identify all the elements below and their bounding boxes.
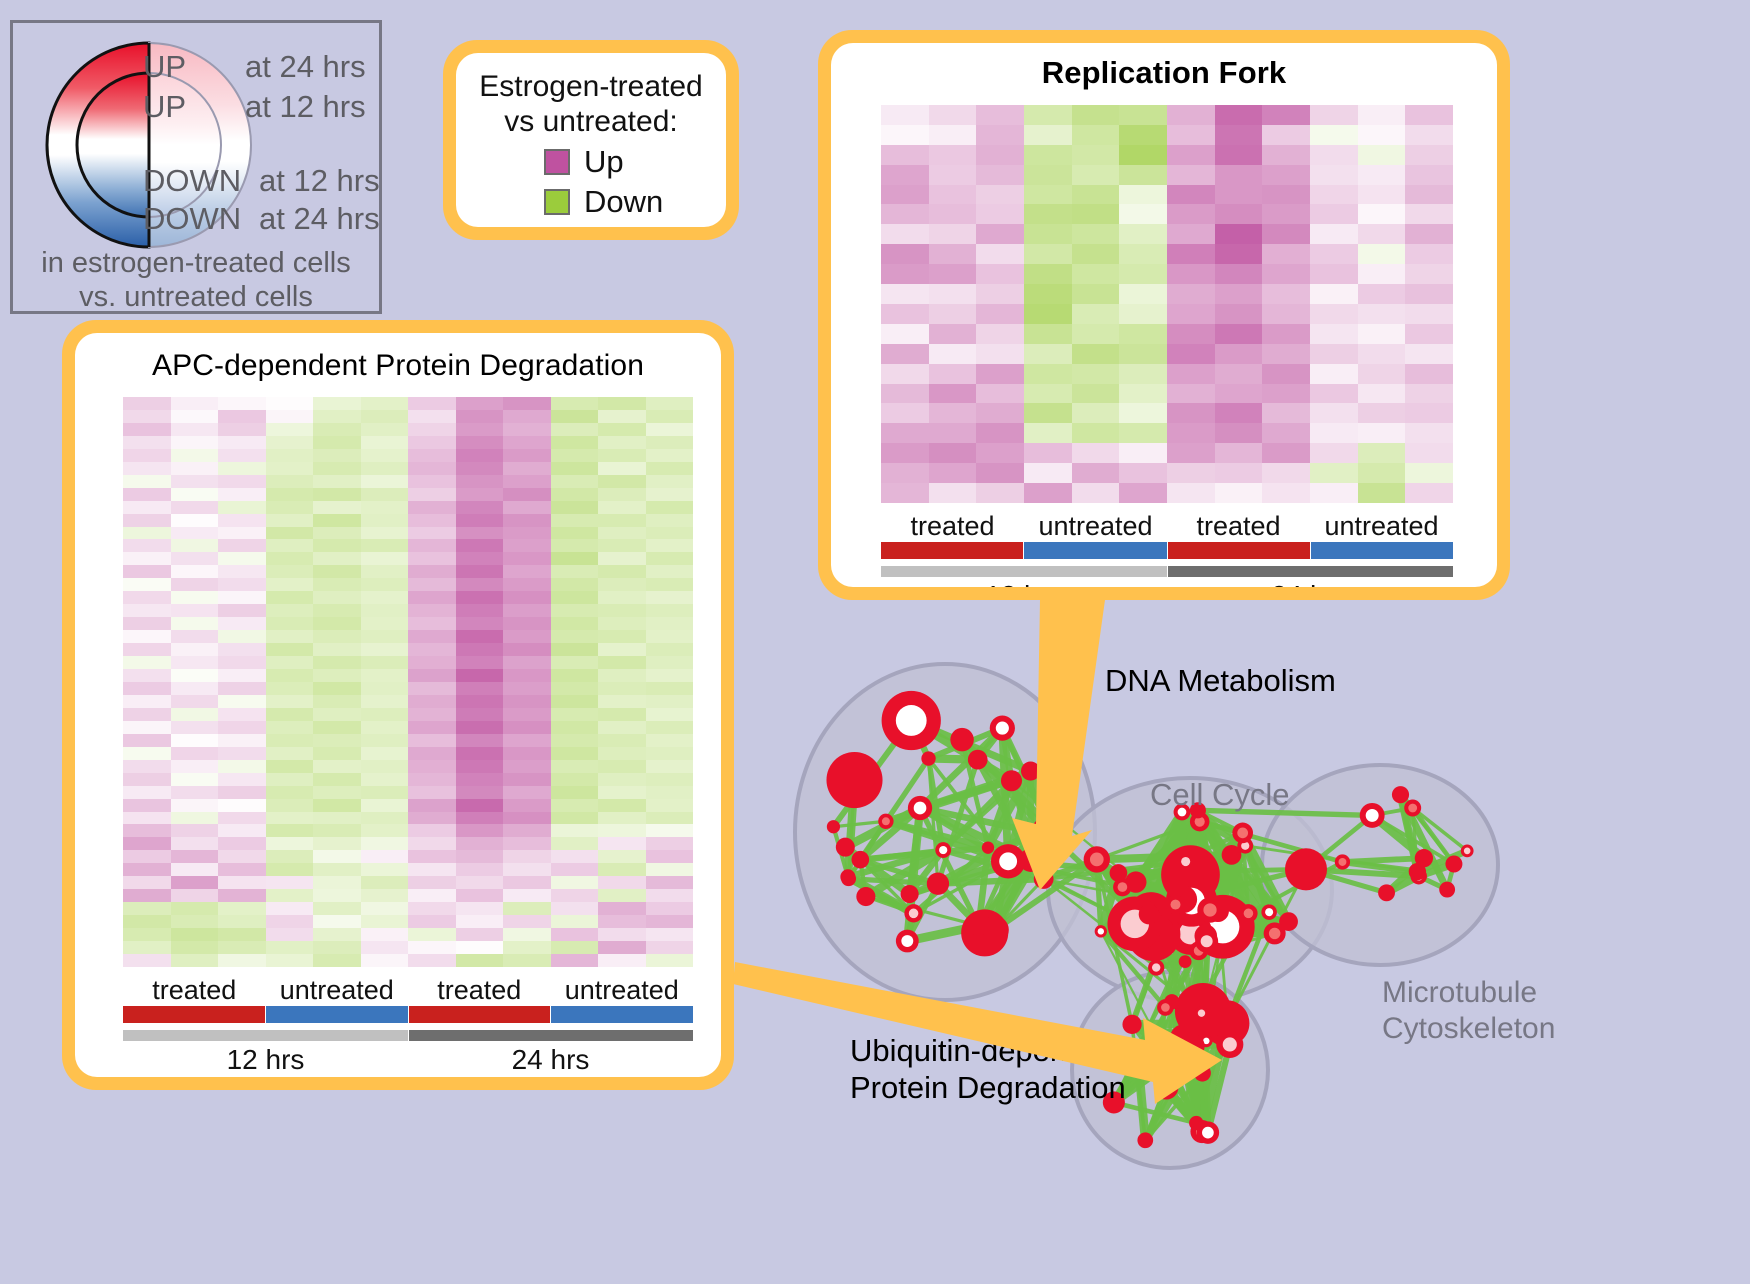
heatmap-cell xyxy=(503,928,551,941)
heatmap-cell xyxy=(218,475,266,488)
heatmap-cell xyxy=(361,695,409,708)
legend-item-down: Down xyxy=(544,184,716,220)
heatmap-cell xyxy=(929,483,977,503)
heatmap-cell xyxy=(218,514,266,527)
heatmap-cell xyxy=(123,604,171,617)
heatmap-cell xyxy=(361,462,409,475)
heatmap-cell xyxy=(266,902,314,915)
heatmap-cell xyxy=(929,105,977,125)
heatmap-cell xyxy=(266,941,314,954)
heatmap-cell xyxy=(1072,264,1120,284)
heatmap-cell xyxy=(408,591,456,604)
network-node[interactable] xyxy=(1194,1064,1211,1081)
heatmap-cell xyxy=(313,591,361,604)
heatmap-cell xyxy=(266,863,314,876)
heatmap-cell xyxy=(361,915,409,928)
network-node[interactable] xyxy=(1264,922,1286,944)
heatmap-cell xyxy=(881,403,929,423)
heatmap-cell xyxy=(598,630,646,643)
network-node[interactable] xyxy=(836,838,855,857)
heatmap-cell xyxy=(123,488,171,501)
heatmap-cell xyxy=(1358,185,1406,205)
heatmap-cell xyxy=(313,760,361,773)
heatmap-cell xyxy=(123,423,171,436)
network-node[interactable] xyxy=(969,916,989,936)
heatmap-cell xyxy=(976,185,1024,205)
network-node[interactable] xyxy=(1197,897,1222,922)
heatmap-cell xyxy=(1358,324,1406,344)
heatmap-cell xyxy=(1072,185,1120,205)
heatmap-cell xyxy=(976,463,1024,483)
heatmap-cell xyxy=(1405,443,1453,463)
heatmap-cell xyxy=(123,552,171,565)
network-node[interactable] xyxy=(935,842,951,858)
heatmap-cell xyxy=(1119,344,1167,364)
heatmap-cell xyxy=(266,514,314,527)
heatmap-cell xyxy=(1405,185,1453,205)
heatmap-cell xyxy=(171,799,219,812)
heatmap-cell xyxy=(456,449,504,462)
heatmap-cell xyxy=(266,591,314,604)
network-node[interactable] xyxy=(1461,844,1474,857)
heatmap-cell xyxy=(1310,483,1358,503)
legend-row-2-time: at 12 hrs xyxy=(259,163,380,199)
heatmap-cell xyxy=(361,760,409,773)
heatmap-cell xyxy=(551,837,599,850)
heatmap-cell xyxy=(313,682,361,695)
heatmap-cell xyxy=(503,902,551,915)
network-node[interactable] xyxy=(1439,882,1455,898)
network-node[interactable] xyxy=(1415,849,1433,867)
heatmap-cell xyxy=(171,863,219,876)
heatmap-cell xyxy=(1310,443,1358,463)
network-node[interactable] xyxy=(982,841,994,853)
heatmap-cell xyxy=(218,643,266,656)
heatmap-cell xyxy=(598,397,646,410)
heatmap-cell xyxy=(881,443,929,463)
heatmap-cell xyxy=(598,591,646,604)
heatmap-cell xyxy=(171,436,219,449)
heatmap-cell xyxy=(218,824,266,837)
heatmap-cell xyxy=(218,630,266,643)
heatmap-cell xyxy=(123,941,171,954)
heatmap-cell xyxy=(598,954,646,967)
heatmap-cell xyxy=(408,669,456,682)
heatmap-cell xyxy=(408,643,456,656)
down-color-swatch xyxy=(544,189,570,215)
heatmap-cell xyxy=(123,462,171,475)
network-node[interactable] xyxy=(968,750,988,770)
network-node[interactable] xyxy=(1335,854,1350,869)
heatmap-cell xyxy=(646,552,694,565)
network-node[interactable] xyxy=(1084,846,1110,872)
heatmap-cell xyxy=(1024,364,1072,384)
heatmap-cell xyxy=(361,501,409,514)
heatmap-cell xyxy=(361,876,409,889)
network-node[interactable] xyxy=(1392,786,1409,803)
network-node[interactable] xyxy=(1095,925,1107,937)
heatmap-cell xyxy=(361,656,409,669)
network-node[interactable] xyxy=(878,814,893,829)
heatmap-cell xyxy=(123,617,171,630)
heatmap-cell xyxy=(123,630,171,643)
heatmap-cell xyxy=(1215,304,1263,324)
heatmap-cell xyxy=(1072,423,1120,443)
network-node[interactable] xyxy=(1154,1075,1179,1100)
heatmap-cell xyxy=(551,863,599,876)
heatmap-cell xyxy=(456,669,504,682)
heatmap-cell xyxy=(1405,483,1453,503)
heatmap-cell xyxy=(456,928,504,941)
heatmap-cell xyxy=(1262,423,1310,443)
heatmap-cell xyxy=(313,436,361,449)
heatmap-cell xyxy=(1215,185,1263,205)
heatmap-cell xyxy=(646,682,694,695)
cluster-label-line: Microtubule xyxy=(1382,975,1555,1011)
heatmap-cell xyxy=(313,410,361,423)
heatmap-cell xyxy=(598,734,646,747)
expression-legend-title-2: vs untreated: xyxy=(466,104,716,139)
network-node[interactable] xyxy=(1157,999,1174,1016)
heatmap-cell xyxy=(1262,364,1310,384)
heatmap-cell xyxy=(361,449,409,462)
heatmap-cell xyxy=(1262,443,1310,463)
heatmap-cell xyxy=(598,902,646,915)
heatmap-cell xyxy=(171,786,219,799)
heatmap-cell xyxy=(646,850,694,863)
network-node[interactable] xyxy=(1285,848,1327,890)
heatmap-cell xyxy=(598,514,646,527)
network-node[interactable] xyxy=(1148,1030,1171,1053)
heatmap-cell xyxy=(646,539,694,552)
network-node[interactable] xyxy=(1137,1132,1153,1148)
network-node[interactable] xyxy=(1166,895,1185,914)
heatmap-cell xyxy=(408,760,456,773)
heatmap-cell xyxy=(313,630,361,643)
heatmap-cell xyxy=(313,954,361,967)
heatmap-cell xyxy=(1167,344,1215,364)
network-node[interactable] xyxy=(927,873,949,895)
heatmap-cell xyxy=(456,527,504,540)
heatmap-cell xyxy=(598,410,646,423)
heatmap-cell xyxy=(646,799,694,812)
heatmap-cell xyxy=(1072,403,1120,423)
heatmap-cell xyxy=(1310,384,1358,404)
heatmap-cell xyxy=(408,695,456,708)
heatmap-cell xyxy=(503,850,551,863)
heatmap-cell xyxy=(123,397,171,410)
heatmap-cell xyxy=(456,812,504,825)
heatmap-cell xyxy=(503,721,551,734)
heatmap-cell xyxy=(598,578,646,591)
network-node[interactable] xyxy=(852,851,870,869)
heatmap-cell xyxy=(123,643,171,656)
heatmap-cell xyxy=(551,630,599,643)
time-segment-0 xyxy=(881,566,1168,577)
heatmap-cell xyxy=(1024,423,1072,443)
heatmap-cell xyxy=(123,565,171,578)
heatmap-cell xyxy=(1262,463,1310,483)
heatmap-cell xyxy=(171,488,219,501)
heatmap-cell xyxy=(408,928,456,941)
heatmap-cell xyxy=(929,364,977,384)
network-node[interactable] xyxy=(826,752,882,808)
heatmap-cell xyxy=(218,578,266,591)
heatmap-cell xyxy=(881,224,929,244)
heatmap-cell xyxy=(598,941,646,954)
heatmap-cell xyxy=(171,876,219,889)
apc-panel-title: APC-dependent Protein Degradation xyxy=(75,333,721,383)
heatmap-cell xyxy=(1215,463,1263,483)
heatmap-cell xyxy=(171,682,219,695)
heatmap-cell xyxy=(1119,324,1167,344)
heatmap-cell xyxy=(1024,204,1072,224)
heatmap-cell xyxy=(123,915,171,928)
heatmap-cell xyxy=(1119,364,1167,384)
heatmap-cell xyxy=(1024,125,1072,145)
heatmap-cell xyxy=(646,902,694,915)
heatmap-cell xyxy=(1119,224,1167,244)
network-node[interactable] xyxy=(1404,800,1421,817)
heatmap-cell xyxy=(1119,443,1167,463)
heatmap-cell xyxy=(171,539,219,552)
heatmap-cell xyxy=(408,397,456,410)
network-node[interactable] xyxy=(1034,869,1054,889)
heatmap-cell xyxy=(361,954,409,967)
network-node[interactable] xyxy=(1232,823,1253,844)
legend-row-0-label: UP xyxy=(143,49,186,85)
network-node[interactable] xyxy=(1261,904,1277,920)
heatmap-cell xyxy=(408,617,456,630)
heatmap-cell xyxy=(503,565,551,578)
legend-up-label: Up xyxy=(584,144,624,180)
heatmap-cell xyxy=(1072,284,1120,304)
heatmap-cell xyxy=(361,630,409,643)
heatmap-cell xyxy=(313,565,361,578)
network-node[interactable] xyxy=(841,871,856,886)
heatmap-cell xyxy=(1167,224,1215,244)
heatmap-cell xyxy=(171,773,219,786)
network-node[interactable] xyxy=(1181,1034,1205,1058)
heatmap-cell xyxy=(218,799,266,812)
heatmap-cell xyxy=(123,682,171,695)
heatmap-cell xyxy=(361,591,409,604)
heatmap-cell xyxy=(123,812,171,825)
heatmap-cell xyxy=(123,708,171,721)
heatmap-cell xyxy=(1167,284,1215,304)
heatmap-cell xyxy=(551,539,599,552)
heatmap-cell xyxy=(171,617,219,630)
network-node[interactable] xyxy=(882,691,941,750)
heatmap-cell xyxy=(1215,284,1263,304)
heatmap-cell xyxy=(171,954,219,967)
network-node[interactable] xyxy=(1107,897,1162,952)
heatmap-cell xyxy=(551,773,599,786)
condition-segment-2 xyxy=(409,1006,552,1023)
heatmap-cell xyxy=(171,760,219,773)
time-label-1: 24 hrs xyxy=(1167,577,1453,587)
network-node[interactable] xyxy=(856,887,875,906)
network-node[interactable] xyxy=(908,796,932,820)
network-node[interactable] xyxy=(1194,1006,1208,1020)
heatmap-cell xyxy=(456,643,504,656)
heatmap-cell xyxy=(976,364,1024,384)
heatmap-cell xyxy=(171,824,219,837)
network-node[interactable] xyxy=(1360,803,1385,828)
heatmap-cell xyxy=(313,527,361,540)
heatmap-cell xyxy=(408,786,456,799)
heatmap-cell xyxy=(1262,165,1310,185)
network-node[interactable] xyxy=(1179,955,1192,968)
heatmap-cell xyxy=(646,591,694,604)
heatmap-cell xyxy=(218,889,266,902)
heatmap-cell xyxy=(503,436,551,449)
network-node[interactable] xyxy=(990,716,1015,741)
time-label-1: 24 hrs xyxy=(408,1041,693,1076)
heatmap-cell xyxy=(361,527,409,540)
heatmap-cell xyxy=(551,708,599,721)
network-node[interactable] xyxy=(1148,959,1164,975)
heatmap-cell xyxy=(503,786,551,799)
heatmap-cell xyxy=(171,941,219,954)
heatmap-cell xyxy=(929,145,977,165)
apc-time-bar xyxy=(123,1030,693,1041)
heatmap-cell xyxy=(123,527,171,540)
heatmap-cell xyxy=(218,462,266,475)
heatmap-cell xyxy=(218,552,266,565)
network-node[interactable] xyxy=(1239,904,1257,922)
replication-fork-panel: Replication Fork treateduntreatedtreated… xyxy=(818,30,1510,600)
heatmap-cell xyxy=(313,695,361,708)
heatmap-cell xyxy=(266,449,314,462)
heatmap-cell xyxy=(598,501,646,514)
heatmap-cell xyxy=(408,773,456,786)
heatmap-cell xyxy=(598,747,646,760)
fork-condition-bar xyxy=(881,542,1453,559)
heatmap-cell xyxy=(171,604,219,617)
heatmap-cell xyxy=(456,539,504,552)
heatmap-cell xyxy=(266,786,314,799)
heatmap-cell xyxy=(976,244,1024,264)
heatmap-cell xyxy=(598,436,646,449)
network-node[interactable] xyxy=(1021,761,1040,780)
heatmap-cell xyxy=(551,656,599,669)
network-node[interactable] xyxy=(1216,1031,1243,1058)
heatmap-cell xyxy=(503,604,551,617)
heatmap-cell xyxy=(313,734,361,747)
heatmap-cell xyxy=(313,850,361,863)
heatmap-cell xyxy=(551,436,599,449)
network-node[interactable] xyxy=(1197,1121,1219,1143)
heatmap-cell xyxy=(503,527,551,540)
network-node[interactable] xyxy=(896,930,919,953)
network-node[interactable] xyxy=(1177,853,1195,871)
heatmap-cell xyxy=(313,747,361,760)
heatmap-cell xyxy=(929,165,977,185)
heatmap-cell xyxy=(1358,304,1406,324)
heatmap-cell xyxy=(646,747,694,760)
heatmap-cell xyxy=(503,760,551,773)
heatmap-cell xyxy=(313,578,361,591)
heatmap-cell xyxy=(976,344,1024,364)
heatmap-cell xyxy=(598,552,646,565)
heatmap-cell xyxy=(218,734,266,747)
heatmap-cell xyxy=(1358,344,1406,364)
heatmap-cell xyxy=(171,695,219,708)
cluster-label-cell-cycle: Cell Cycle xyxy=(1150,776,1290,813)
heatmap-cell xyxy=(503,552,551,565)
heatmap-cell xyxy=(551,462,599,475)
heatmap-cell xyxy=(171,475,219,488)
network-node[interactable] xyxy=(827,820,840,833)
heatmap-cell xyxy=(266,604,314,617)
heatmap-cell xyxy=(646,760,694,773)
network-node[interactable] xyxy=(921,751,935,765)
network-node[interactable] xyxy=(1113,878,1132,897)
heatmap-cell xyxy=(408,941,456,954)
heatmap-cell xyxy=(1310,264,1358,284)
heatmap-cell xyxy=(408,915,456,928)
heatmap-cell xyxy=(881,204,929,224)
heatmap-cell xyxy=(1024,443,1072,463)
heatmap-cell xyxy=(646,630,694,643)
heatmap-cell xyxy=(598,721,646,734)
heatmap-cell xyxy=(123,410,171,423)
network-node[interactable] xyxy=(1445,856,1462,873)
heatmap-cell xyxy=(408,462,456,475)
heatmap-cell xyxy=(361,475,409,488)
heatmap-cell xyxy=(551,682,599,695)
heatmap-cell xyxy=(1167,463,1215,483)
network-node[interactable] xyxy=(1037,813,1060,836)
heatmap-cell xyxy=(266,889,314,902)
heatmap-cell xyxy=(551,449,599,462)
heatmap-cell xyxy=(1119,304,1167,324)
network-node[interactable] xyxy=(1019,848,1043,872)
heatmap-cell xyxy=(266,630,314,643)
heatmap-cell xyxy=(1405,463,1453,483)
heatmap-cell xyxy=(313,397,361,410)
heatmap-cell xyxy=(929,125,977,145)
network-node[interactable] xyxy=(1195,930,1218,953)
heatmap-cell xyxy=(266,552,314,565)
network-node[interactable] xyxy=(950,728,973,751)
network-node[interactable] xyxy=(904,904,922,922)
heatmap-cell xyxy=(551,889,599,902)
network-node[interactable] xyxy=(1378,884,1395,901)
network-node[interactable] xyxy=(901,885,919,903)
heatmap-cell xyxy=(123,786,171,799)
heatmap-cell xyxy=(598,488,646,501)
heatmap-cell xyxy=(503,708,551,721)
heatmap-cell xyxy=(456,747,504,760)
heatmap-cell xyxy=(266,824,314,837)
heatmap-cell xyxy=(361,552,409,565)
network-node[interactable] xyxy=(1001,770,1022,791)
heatmap-cell xyxy=(598,643,646,656)
network-node[interactable] xyxy=(1139,904,1160,925)
heatmap-cell xyxy=(408,449,456,462)
expression-legend-title-1: Estrogen-treated xyxy=(466,69,716,104)
pathway-network-diagram: DNA Metabolism Cell Cycle MicrotubuleCyt… xyxy=(770,600,1750,1279)
heatmap-cell xyxy=(1167,443,1215,463)
heatmap-cell xyxy=(929,403,977,423)
heatmap-cell xyxy=(551,617,599,630)
heatmap-cell xyxy=(456,721,504,734)
heatmap-cell xyxy=(456,578,504,591)
cluster-label-line: Cell Cycle xyxy=(1150,776,1290,813)
heatmap-cell xyxy=(976,284,1024,304)
